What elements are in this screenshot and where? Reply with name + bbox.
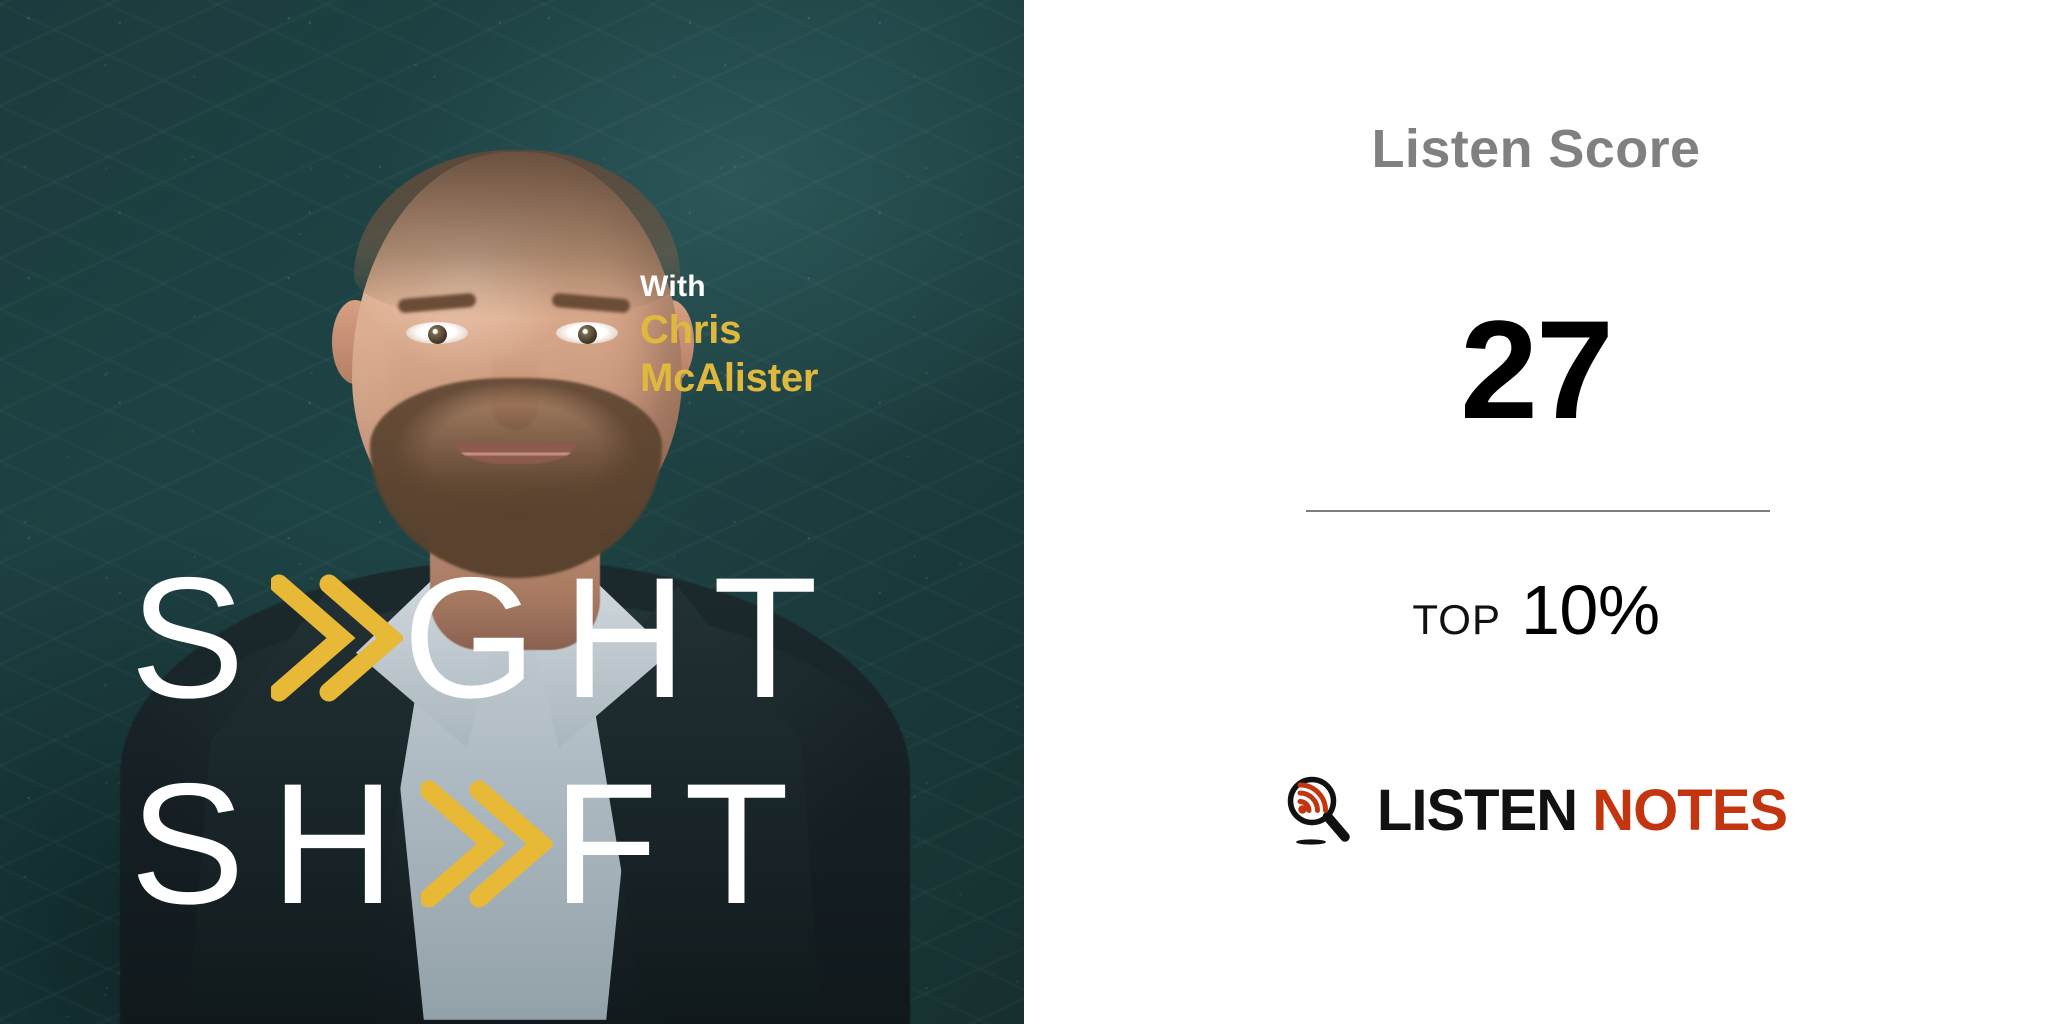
- wordmark-line-1: S GHT: [130, 548, 890, 728]
- listen-score-title: Listen Score: [1024, 118, 2048, 180]
- listen-notes-word-listen: LISTEN: [1377, 778, 1577, 843]
- host-name-line-2: McAlister: [640, 357, 880, 399]
- double-chevron-right-icon-2: [421, 776, 553, 912]
- listen-score-value: 27: [1024, 300, 2048, 440]
- listen-notes-wordmark: LISTEN NOTES: [1377, 782, 1787, 840]
- wordmark-line1-prefix: S: [130, 552, 271, 724]
- double-chevron-right-icon: [271, 570, 403, 706]
- top-percentile-label: TOP: [1412, 596, 1501, 644]
- panel-divider: [1306, 510, 1770, 512]
- portrait-iris-right: [578, 325, 597, 344]
- portrait-iris-left: [428, 325, 447, 344]
- show-wordmark: S GHT SH FT: [130, 548, 890, 934]
- listen-notes-magnifier-rss-icon: [1285, 775, 1351, 847]
- wordmark-line-2: SH FT: [130, 754, 890, 934]
- listen-score-panel: Listen Score 27 TOP 10% LISTEN NOTES: [1024, 0, 2048, 1024]
- wordmark-line2-suffix: FT: [553, 758, 815, 930]
- wordmark-line2-prefix: SH: [130, 758, 421, 930]
- top-percentile-value: 10%: [1521, 570, 1660, 650]
- host-credit-block: With Chris McAlister: [640, 270, 880, 399]
- listen-notes-logo[interactable]: LISTEN NOTES: [1024, 775, 2048, 847]
- top-percentile-row: TOP 10%: [1024, 570, 2048, 650]
- listen-score-card: With Chris McAlister S GHT SH: [0, 0, 2048, 1024]
- host-credit-prefix: With: [640, 270, 880, 303]
- podcast-cover-art[interactable]: With Chris McAlister S GHT SH: [0, 0, 1024, 1024]
- host-name-line-1: Chris: [640, 309, 880, 351]
- portrait-hair: [354, 150, 680, 318]
- listen-notes-word-notes: NOTES: [1592, 778, 1787, 843]
- wordmark-line1-suffix: GHT: [403, 552, 844, 724]
